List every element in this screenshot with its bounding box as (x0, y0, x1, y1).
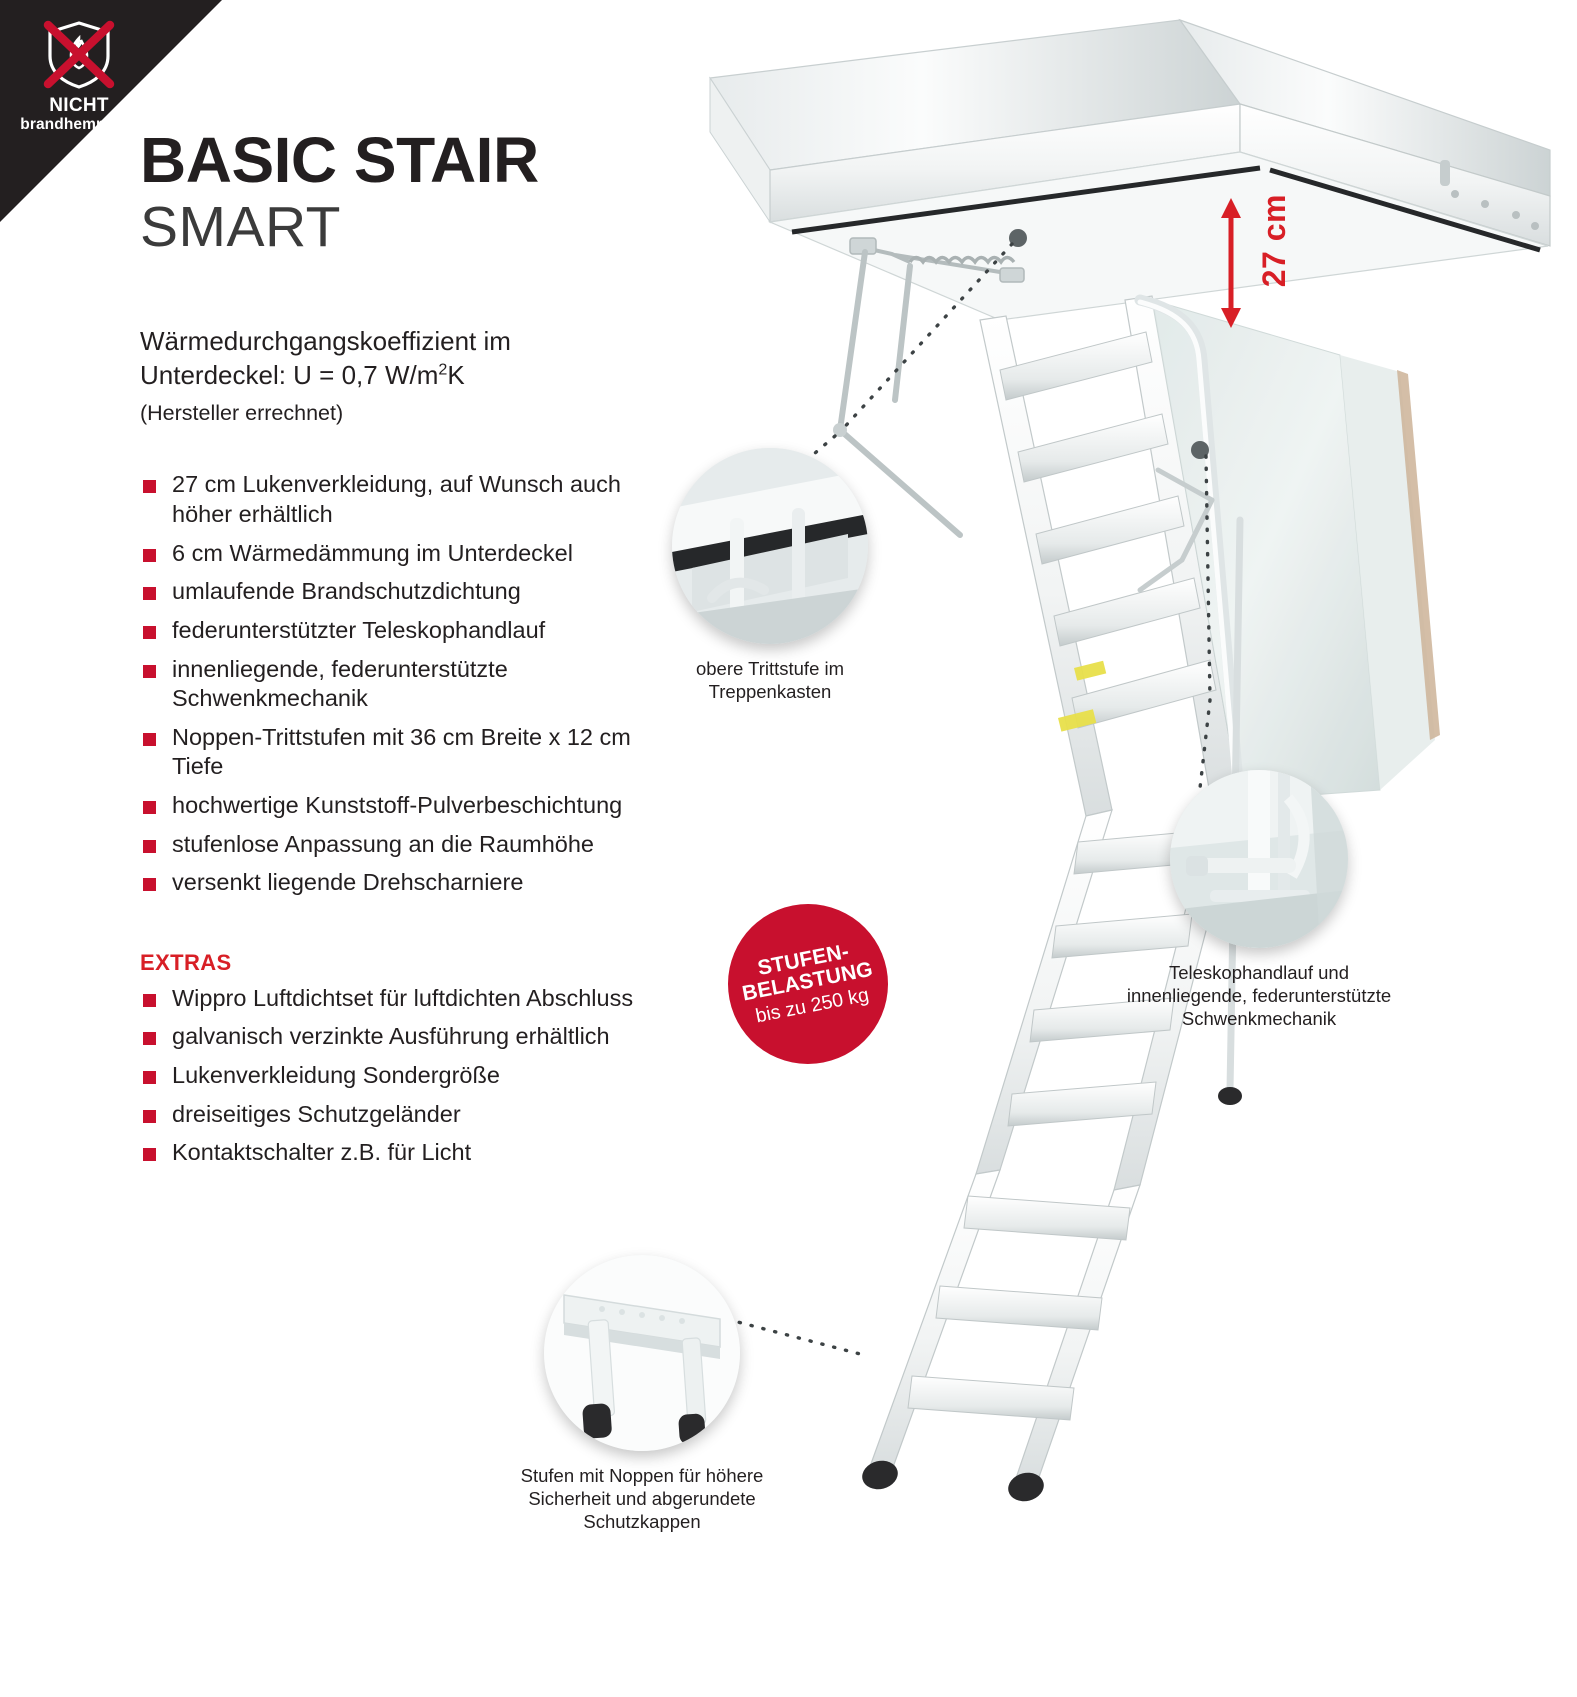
spec-note: (Hersteller errechnet) (140, 401, 640, 426)
list-item: federunterstützter Teleskophandlauf (140, 616, 640, 646)
dimension-label: 27 cm (1256, 194, 1293, 287)
list-item: versenkt liegende Drehscharniere (140, 868, 640, 898)
list-item: Wippro Luftdichtset für luftdichten Absc… (140, 984, 640, 1014)
callout-stufen-mit-noppen: Stufen mit Noppen für höhere Sicherheit … (492, 1255, 792, 1533)
callout-image-step-nubs (544, 1255, 740, 1451)
dimension-arrow-icon (1216, 198, 1246, 328)
list-item: 27 cm Lukenverkleidung, auf Wunsch auch … (140, 470, 640, 529)
callout-teleskophandlauf: Teleskophandlauf und innenliegende, fede… (1114, 770, 1404, 1030)
thermal-spec: Wärmedurchgangskoeffizient im Unterdecke… (140, 324, 640, 427)
fire-rating-badge: NICHT brandhemmend (0, 0, 222, 222)
feature-list: 27 cm Lukenverkleidung, auf Wunsch auch … (140, 470, 640, 897)
list-item: dreiseitiges Schutzgeländer (140, 1100, 640, 1130)
list-item: galvanisch verzinkte Ausführung erhältli… (140, 1022, 640, 1052)
list-item: stufenlose Anpassung an die Raumhöhe (140, 830, 640, 860)
spec-u-value-pre: Unterdeckel: U = 0,7 W/m (140, 360, 438, 390)
badge-label-brandhemmend: brandhemmend (14, 116, 144, 133)
list-item: Lukenverkleidung Sondergröße (140, 1061, 640, 1091)
spec-u-value-sup: 2 (438, 360, 447, 378)
spec-line-2: Unterdeckel: U = 0,7 W/m2K (140, 358, 640, 392)
list-item: hochwertige Kunststoff-Pulverbeschichtun… (140, 791, 640, 821)
callout-caption: Teleskophandlauf und innenliegende, fede… (1114, 961, 1404, 1030)
callout-caption: obere Trittstufe im Treppenkasten (655, 657, 885, 703)
callout-obere-trittstufe: obere Trittstufe im Treppenkasten (655, 448, 885, 703)
fire-shield-crossed-icon (40, 18, 118, 92)
callout-image-handrail (1170, 770, 1348, 948)
list-item: Kontaktschalter z.B. für Licht (140, 1138, 640, 1168)
spec-u-value-post: K (447, 360, 464, 390)
callout-caption: Stufen mit Noppen für höhere Sicherheit … (492, 1464, 792, 1533)
dimension-marker-27cm: 27 cm (1208, 198, 1318, 333)
callout-image-upper-step (672, 448, 868, 644)
extras-heading: EXTRAS (140, 950, 640, 976)
list-item: innenliegende, federunterstützte Schwenk… (140, 655, 640, 714)
list-item: 6 cm Wärmedämmung im Unterdeckel (140, 539, 640, 569)
badge-label-nicht: NICHT (14, 96, 144, 116)
list-item: umlaufende Brandschutzdichtung (140, 577, 640, 607)
list-item: Noppen-Trittstufen mit 36 cm Breite x 12… (140, 723, 640, 782)
spec-line-1: Wärmedurchgangskoeffizient im (140, 324, 640, 358)
extras-list: Wippro Luftdichtset für luftdichten Absc… (140, 984, 640, 1168)
